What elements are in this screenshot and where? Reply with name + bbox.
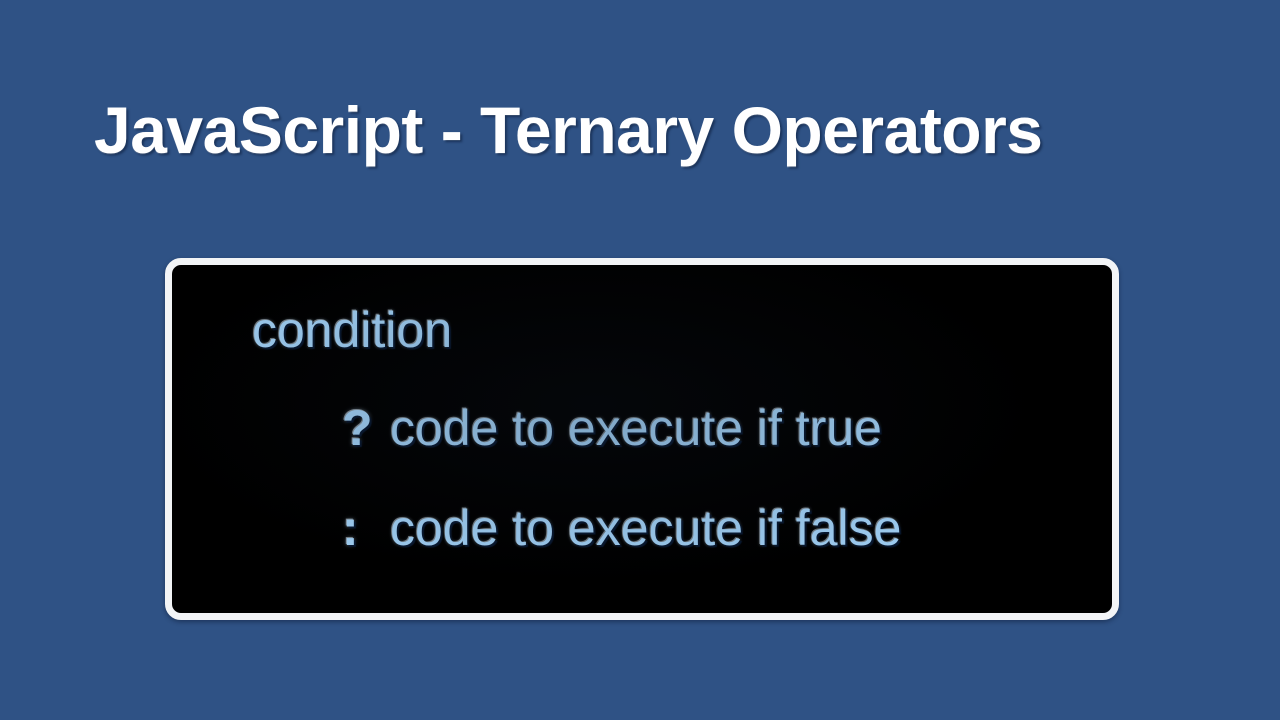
code-line-true-branch-text: code to execute if true bbox=[390, 403, 882, 453]
code-lines: condition ? code to execute if true : co… bbox=[172, 265, 1112, 613]
page-title: JavaScript - Ternary Operators bbox=[94, 92, 1194, 168]
question-mark-operator-icon: ? bbox=[342, 403, 390, 453]
slide-canvas: JavaScript - Ternary Operators condition… bbox=[0, 0, 1280, 720]
colon-operator-icon: : bbox=[342, 503, 390, 553]
code-line-false-branch-text: code to execute if false bbox=[390, 503, 901, 553]
code-line-true-branch: ? code to execute if true bbox=[342, 403, 882, 453]
code-panel: condition ? code to execute if true : co… bbox=[165, 258, 1119, 620]
code-line-false-branch: : code to execute if false bbox=[342, 503, 901, 553]
code-line-condition: condition bbox=[252, 305, 452, 355]
